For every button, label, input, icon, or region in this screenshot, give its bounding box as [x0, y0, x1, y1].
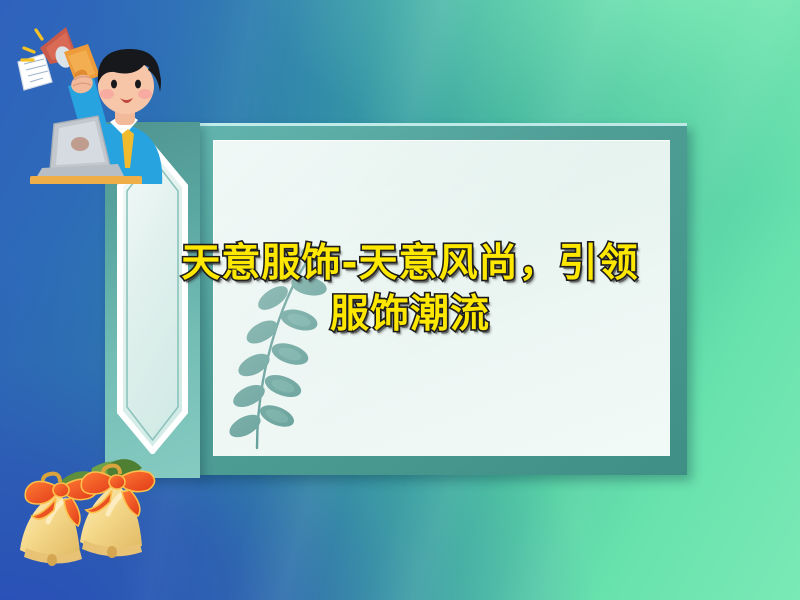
- cheek-left: [100, 89, 114, 99]
- eye-right: [135, 80, 141, 89]
- desk-shape: [30, 176, 142, 184]
- title-line-2: 服饰潮流: [150, 289, 670, 340]
- slide-title: 天意服饰-天意风尚，引领 服饰潮流: [150, 238, 670, 341]
- cheek-right: [138, 89, 152, 99]
- slide-canvas: 天意服饰-天意风尚，引领 服饰潮流: [0, 0, 800, 600]
- christmas-bells-illustration: [4, 452, 169, 582]
- eye-left: [111, 80, 117, 89]
- title-line-1: 天意服饰-天意风尚，引领: [150, 238, 670, 289]
- announcer-illustration: [2, 4, 207, 184]
